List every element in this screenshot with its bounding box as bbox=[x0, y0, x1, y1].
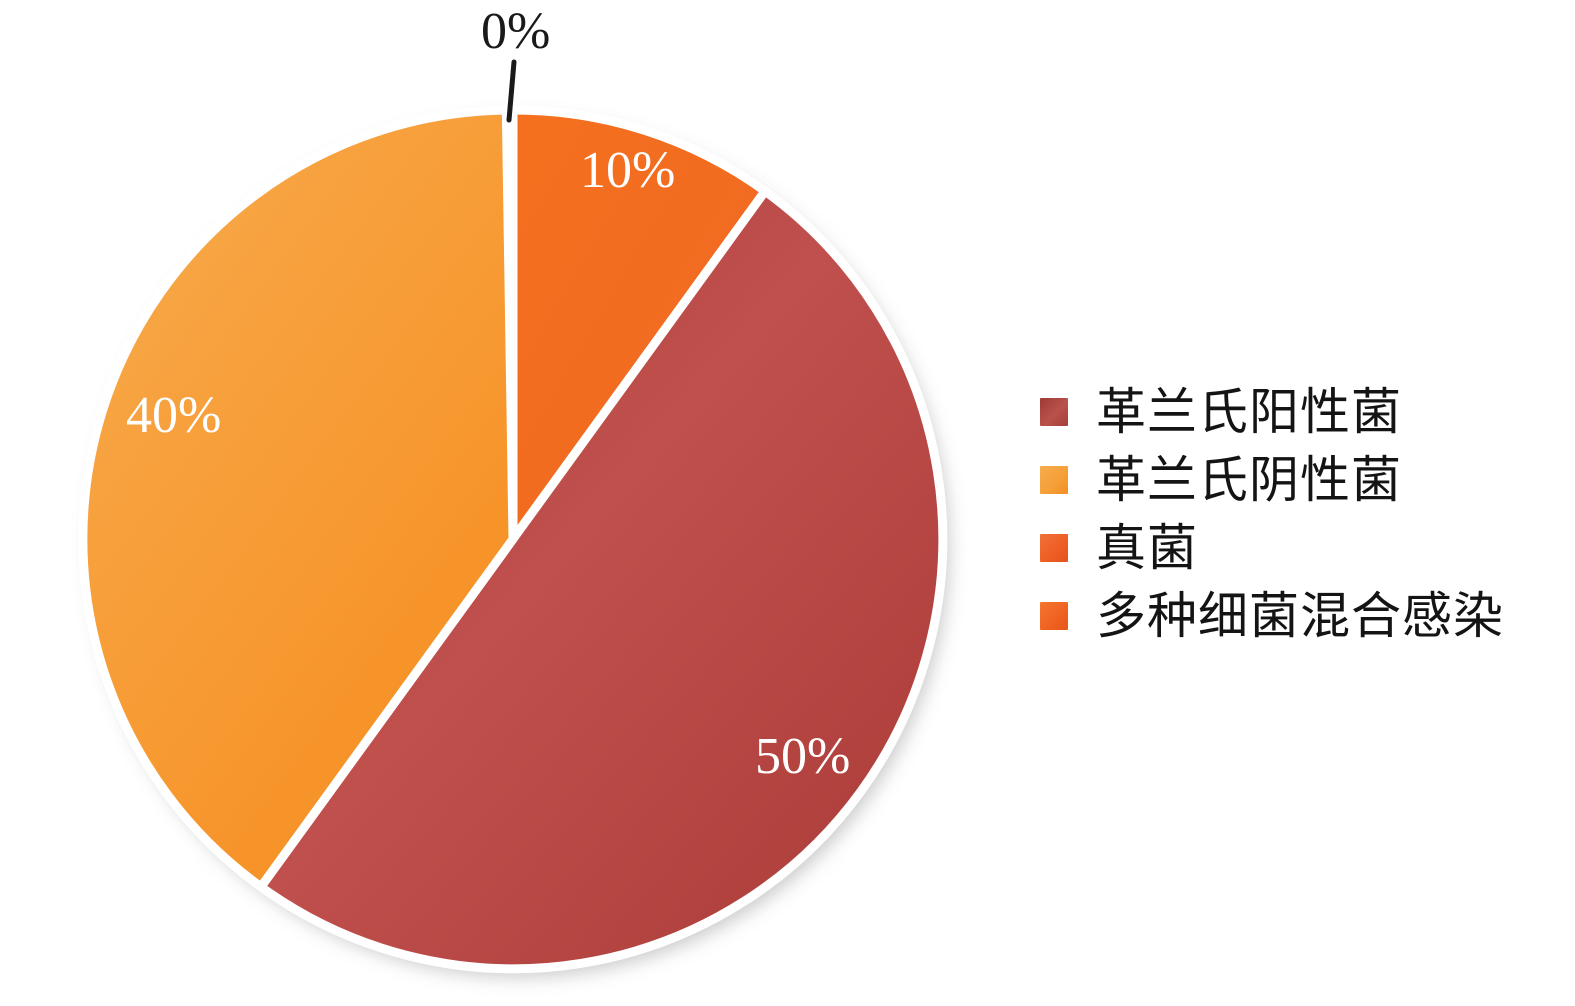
pie-chart-svg bbox=[0, 0, 1010, 1006]
legend-item-mixed-infection[interactable]: 多种细菌混合感染 bbox=[1040, 582, 1560, 650]
legend-swatch-gram-positive bbox=[1040, 398, 1068, 426]
legend-item-gram-positive[interactable]: 革兰氏阳性菌 bbox=[1040, 378, 1560, 446]
legend-swatch-gram-negative bbox=[1040, 466, 1068, 494]
slice-label-fungi: 10% bbox=[580, 145, 675, 197]
legend-item-fungi[interactable]: 真菌 bbox=[1040, 514, 1560, 582]
slice-label-gram-negative: 40% bbox=[126, 390, 221, 442]
slice-label-mixed-infection: 0% bbox=[481, 6, 550, 58]
pie-chart-figure: 0% 10% 40% 50% 革兰氏阳性菌 革兰氏阴性菌 真菌 多种细菌混合感染 bbox=[0, 0, 1575, 1006]
legend-label-mixed-infection: 多种细菌混合感染 bbox=[1096, 591, 1504, 641]
legend-label-fungi: 真菌 bbox=[1096, 523, 1198, 573]
legend-swatch-fungi bbox=[1040, 534, 1068, 562]
legend-label-gram-negative: 革兰氏阴性菌 bbox=[1096, 455, 1402, 505]
chart-legend: 革兰氏阳性菌 革兰氏阴性菌 真菌 多种细菌混合感染 bbox=[1040, 378, 1560, 650]
legend-item-gram-negative[interactable]: 革兰氏阴性菌 bbox=[1040, 446, 1560, 514]
legend-swatch-mixed-infection bbox=[1040, 602, 1068, 630]
slice-label-gram-positive: 50% bbox=[755, 731, 850, 783]
legend-label-gram-positive: 革兰氏阳性菌 bbox=[1096, 387, 1402, 437]
pie-chart-area: 0% 10% 40% 50% bbox=[0, 0, 1010, 1006]
